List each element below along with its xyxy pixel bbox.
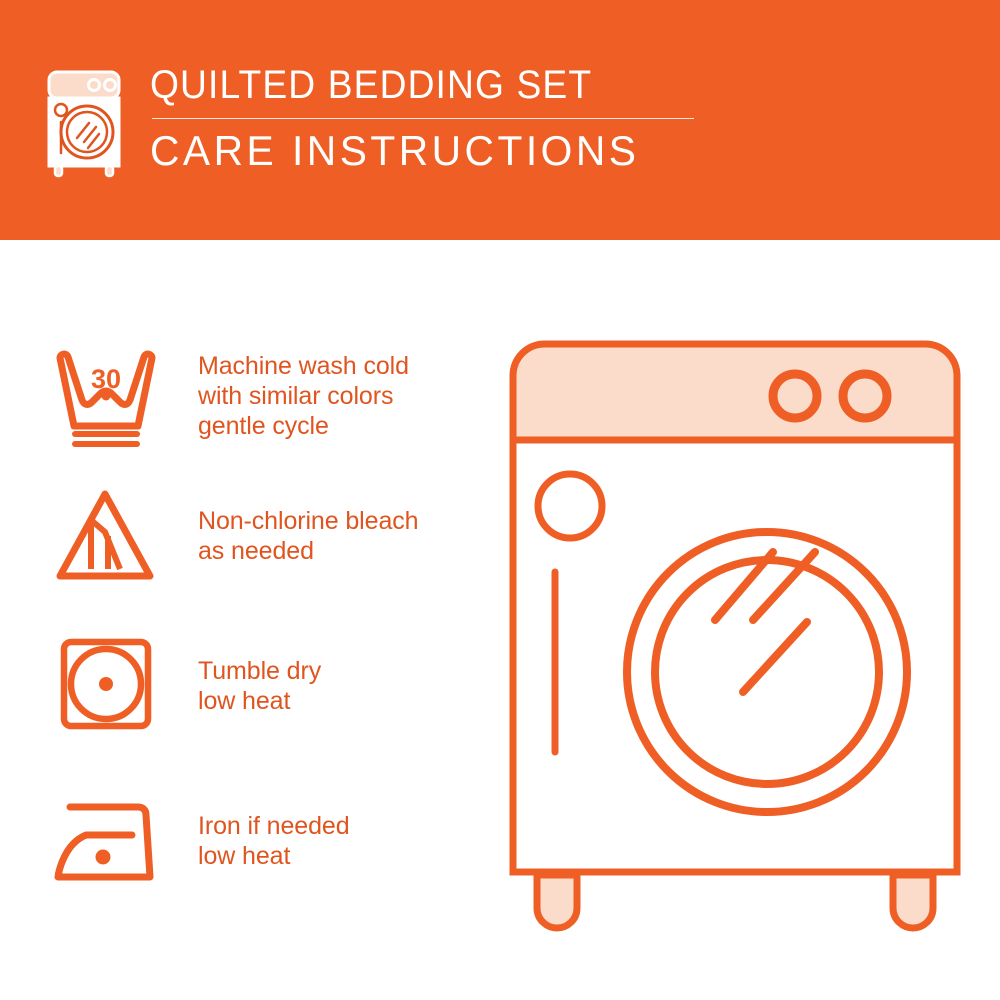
care-text-iron: Iron if needed low heat	[198, 811, 350, 871]
washing-machine-graphic	[495, 330, 975, 940]
care-row-machine-wash: 30 Machine wash cold with similar colors…	[46, 340, 466, 452]
machine-foot-right	[893, 875, 933, 928]
header-title-group: QUILTED BEDDING SET CARE INSTRUCTIONS	[150, 62, 694, 175]
page-title: QUILTED BEDDING SET	[150, 62, 656, 108]
page-subtitle: CARE INSTRUCTIONS	[150, 127, 678, 175]
front-load-washing-machine-illustration	[495, 330, 975, 940]
washing-machine-icon	[44, 68, 130, 180]
care-row-iron: Iron if needed low heat	[46, 785, 466, 897]
control-knob-right[interactable]	[843, 374, 887, 418]
title-divider	[152, 118, 694, 119]
non-chlorine-bleach-triangle-icon	[46, 480, 164, 592]
care-text-tumble-dry: Tumble dry low heat	[198, 656, 321, 716]
control-knob-left[interactable]	[773, 374, 817, 418]
care-instructions-page: QUILTED BEDDING SET CARE INSTRUCTIONS 30…	[0, 0, 1000, 1000]
header-banner: QUILTED BEDDING SET CARE INSTRUCTIONS	[0, 0, 1000, 240]
care-instruction-list: 30 Machine wash cold with similar colors…	[0, 240, 470, 1000]
header-content: QUILTED BEDDING SET CARE INSTRUCTIONS	[44, 62, 694, 180]
care-row-tumble-dry: Tumble dry low heat	[46, 630, 466, 742]
machine-foot-left	[537, 875, 577, 928]
care-text-machine-wash: Machine wash cold with similar colors ge…	[198, 351, 409, 441]
care-text-bleach: Non-chlorine bleach as needed	[198, 506, 418, 566]
wash-temperature-label: 30	[91, 364, 121, 394]
tumble-dry-low-heat-icon	[46, 630, 164, 742]
wash-tub-30-gentle-icon: 30	[46, 340, 164, 452]
iron-low-heat-icon	[46, 785, 164, 897]
care-row-bleach: Non-chlorine bleach as needed	[46, 480, 466, 592]
